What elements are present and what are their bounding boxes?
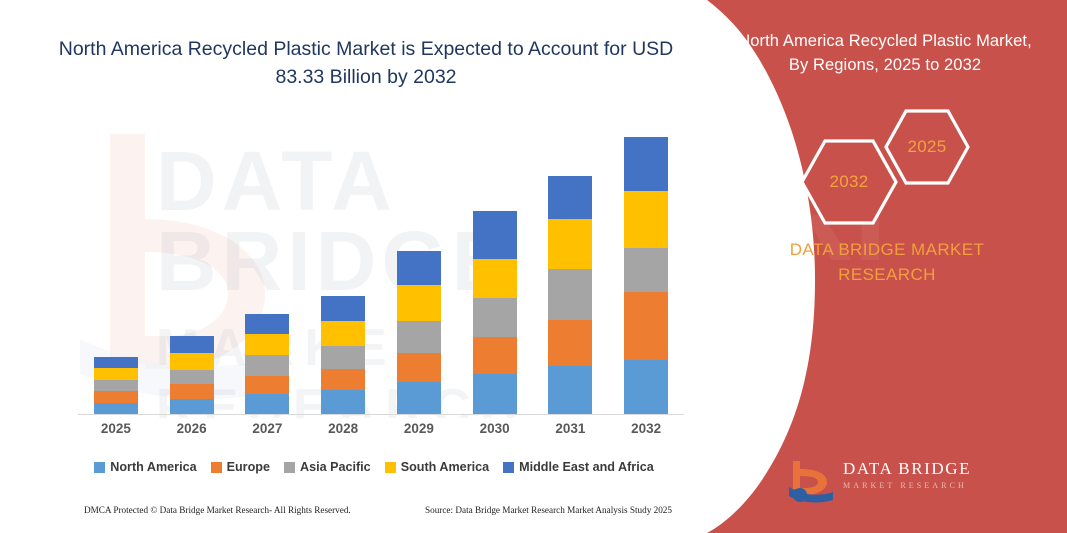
- bar-2030: [473, 211, 517, 414]
- bar-segment: [397, 285, 441, 321]
- hexagon-group: 2025 2032: [787, 108, 1047, 218]
- bar-segment: [94, 391, 138, 402]
- bar-segment: [245, 314, 289, 334]
- bar-segment: [94, 403, 138, 414]
- legend-label: Middle East and Africa: [519, 460, 654, 474]
- bar-segment: [473, 337, 517, 374]
- bar-segment: [473, 259, 517, 298]
- legend-swatch-icon: [211, 462, 222, 473]
- bar-2026: [170, 336, 214, 414]
- hexagon-2032-label: 2032: [799, 138, 899, 226]
- chart-area: North America Recycled Plastic Market is…: [0, 0, 730, 533]
- bar-segment: [397, 251, 441, 285]
- logo-title: DATA BRIDGE: [843, 459, 971, 479]
- bar-2031: [548, 176, 592, 414]
- branding-panel: RI North America Recycled Plastic Market…: [707, 0, 1067, 533]
- bar-segment: [548, 320, 592, 367]
- bar-segment: [397, 382, 441, 414]
- bar-segment: [624, 360, 668, 414]
- bar-2025: [94, 357, 138, 414]
- bar-segment: [170, 384, 214, 398]
- bar-segment: [624, 191, 668, 248]
- hexagon-2032: 2032: [799, 138, 899, 226]
- bar-segment: [321, 346, 365, 370]
- bar-segment: [397, 353, 441, 382]
- footer-source: Source: Data Bridge Market Research Mark…: [425, 505, 672, 515]
- bar-plot: [78, 110, 684, 415]
- legend-item-south-america[interactable]: South America: [385, 460, 489, 474]
- axis-baseline: [78, 414, 684, 415]
- bar-segment: [548, 366, 592, 414]
- legend-label: Europe: [227, 460, 270, 474]
- bar-2029: [397, 251, 441, 414]
- infographic-root: North America Recycled Plastic Market is…: [0, 0, 1067, 533]
- bar-segment: [321, 321, 365, 346]
- x-axis-label-2026: 2026: [157, 421, 227, 436]
- bar-segment: [321, 390, 365, 414]
- bar-2028: [321, 296, 365, 414]
- panel-brand-text: DATA BRIDGE MARKET RESEARCH: [737, 238, 1037, 287]
- bar-segment: [170, 399, 214, 414]
- legend-label: Asia Pacific: [300, 460, 371, 474]
- x-axis-label-2028: 2028: [308, 421, 378, 436]
- bar-segment: [245, 334, 289, 355]
- logo-subtitle: MARKET RESEARCH: [843, 481, 971, 490]
- legend-swatch-icon: [284, 462, 295, 473]
- panel-brand-line-1: DATA BRIDGE MARKET: [737, 238, 1037, 263]
- bar-segment: [397, 321, 441, 352]
- company-logo: DATA BRIDGE MARKET RESEARCH: [723, 457, 1053, 507]
- bar-segment: [245, 376, 289, 394]
- chart-legend: North AmericaEuropeAsia PacificSouth Ame…: [78, 455, 684, 479]
- x-axis-label-2027: 2027: [232, 421, 302, 436]
- bar-2032: [624, 137, 668, 414]
- legend-item-asia-pacific[interactable]: Asia Pacific: [284, 460, 371, 474]
- panel-title: North America Recycled Plastic Market, B…: [735, 30, 1035, 78]
- bar-2027: [245, 314, 289, 414]
- bar-segment: [624, 248, 668, 291]
- bar-segment: [170, 353, 214, 370]
- logo-wordmark: DATA BRIDGE MARKET RESEARCH: [843, 459, 971, 490]
- bar-segment: [624, 292, 668, 360]
- legend-label: South America: [401, 460, 489, 474]
- x-axis-label-2030: 2030: [460, 421, 530, 436]
- x-axis-label-2031: 2031: [535, 421, 605, 436]
- legend-label: North America: [110, 460, 196, 474]
- bar-segment: [245, 394, 289, 414]
- bar-segment: [473, 211, 517, 259]
- bar-segment: [245, 355, 289, 376]
- x-axis-label-2025: 2025: [81, 421, 151, 436]
- bar-segment: [548, 219, 592, 270]
- bar-segment: [624, 137, 668, 191]
- data-bridge-logo-icon: [787, 459, 835, 503]
- bar-segment: [170, 336, 214, 353]
- x-axis-label-2029: 2029: [384, 421, 454, 436]
- footer-copyright: DMCA Protected © Data Bridge Market Rese…: [84, 505, 351, 515]
- bar-segment: [473, 374, 517, 414]
- footer: DMCA Protected © Data Bridge Market Rese…: [0, 505, 730, 529]
- legend-swatch-icon: [94, 462, 105, 473]
- bar-segment: [321, 369, 365, 390]
- x-axis-label-2032: 2032: [611, 421, 681, 436]
- legend-swatch-icon: [385, 462, 396, 473]
- x-axis-labels: 20252026202720282029203020312032: [78, 421, 684, 443]
- bar-segment: [548, 269, 592, 320]
- bar-segment: [170, 370, 214, 384]
- bar-segment: [321, 296, 365, 321]
- legend-item-middle-east-and-africa[interactable]: Middle East and Africa: [503, 460, 654, 474]
- panel-brand-line-2: RESEARCH: [737, 263, 1037, 288]
- bar-segment: [94, 380, 138, 391]
- bar-segment: [94, 357, 138, 368]
- bar-segment: [548, 176, 592, 218]
- bar-segment: [94, 368, 138, 380]
- chart-title: North America Recycled Plastic Market is…: [58, 36, 674, 91]
- legend-item-europe[interactable]: Europe: [211, 460, 270, 474]
- legend-item-north-america[interactable]: North America: [94, 460, 196, 474]
- legend-swatch-icon: [503, 462, 514, 473]
- bar-segment: [473, 298, 517, 337]
